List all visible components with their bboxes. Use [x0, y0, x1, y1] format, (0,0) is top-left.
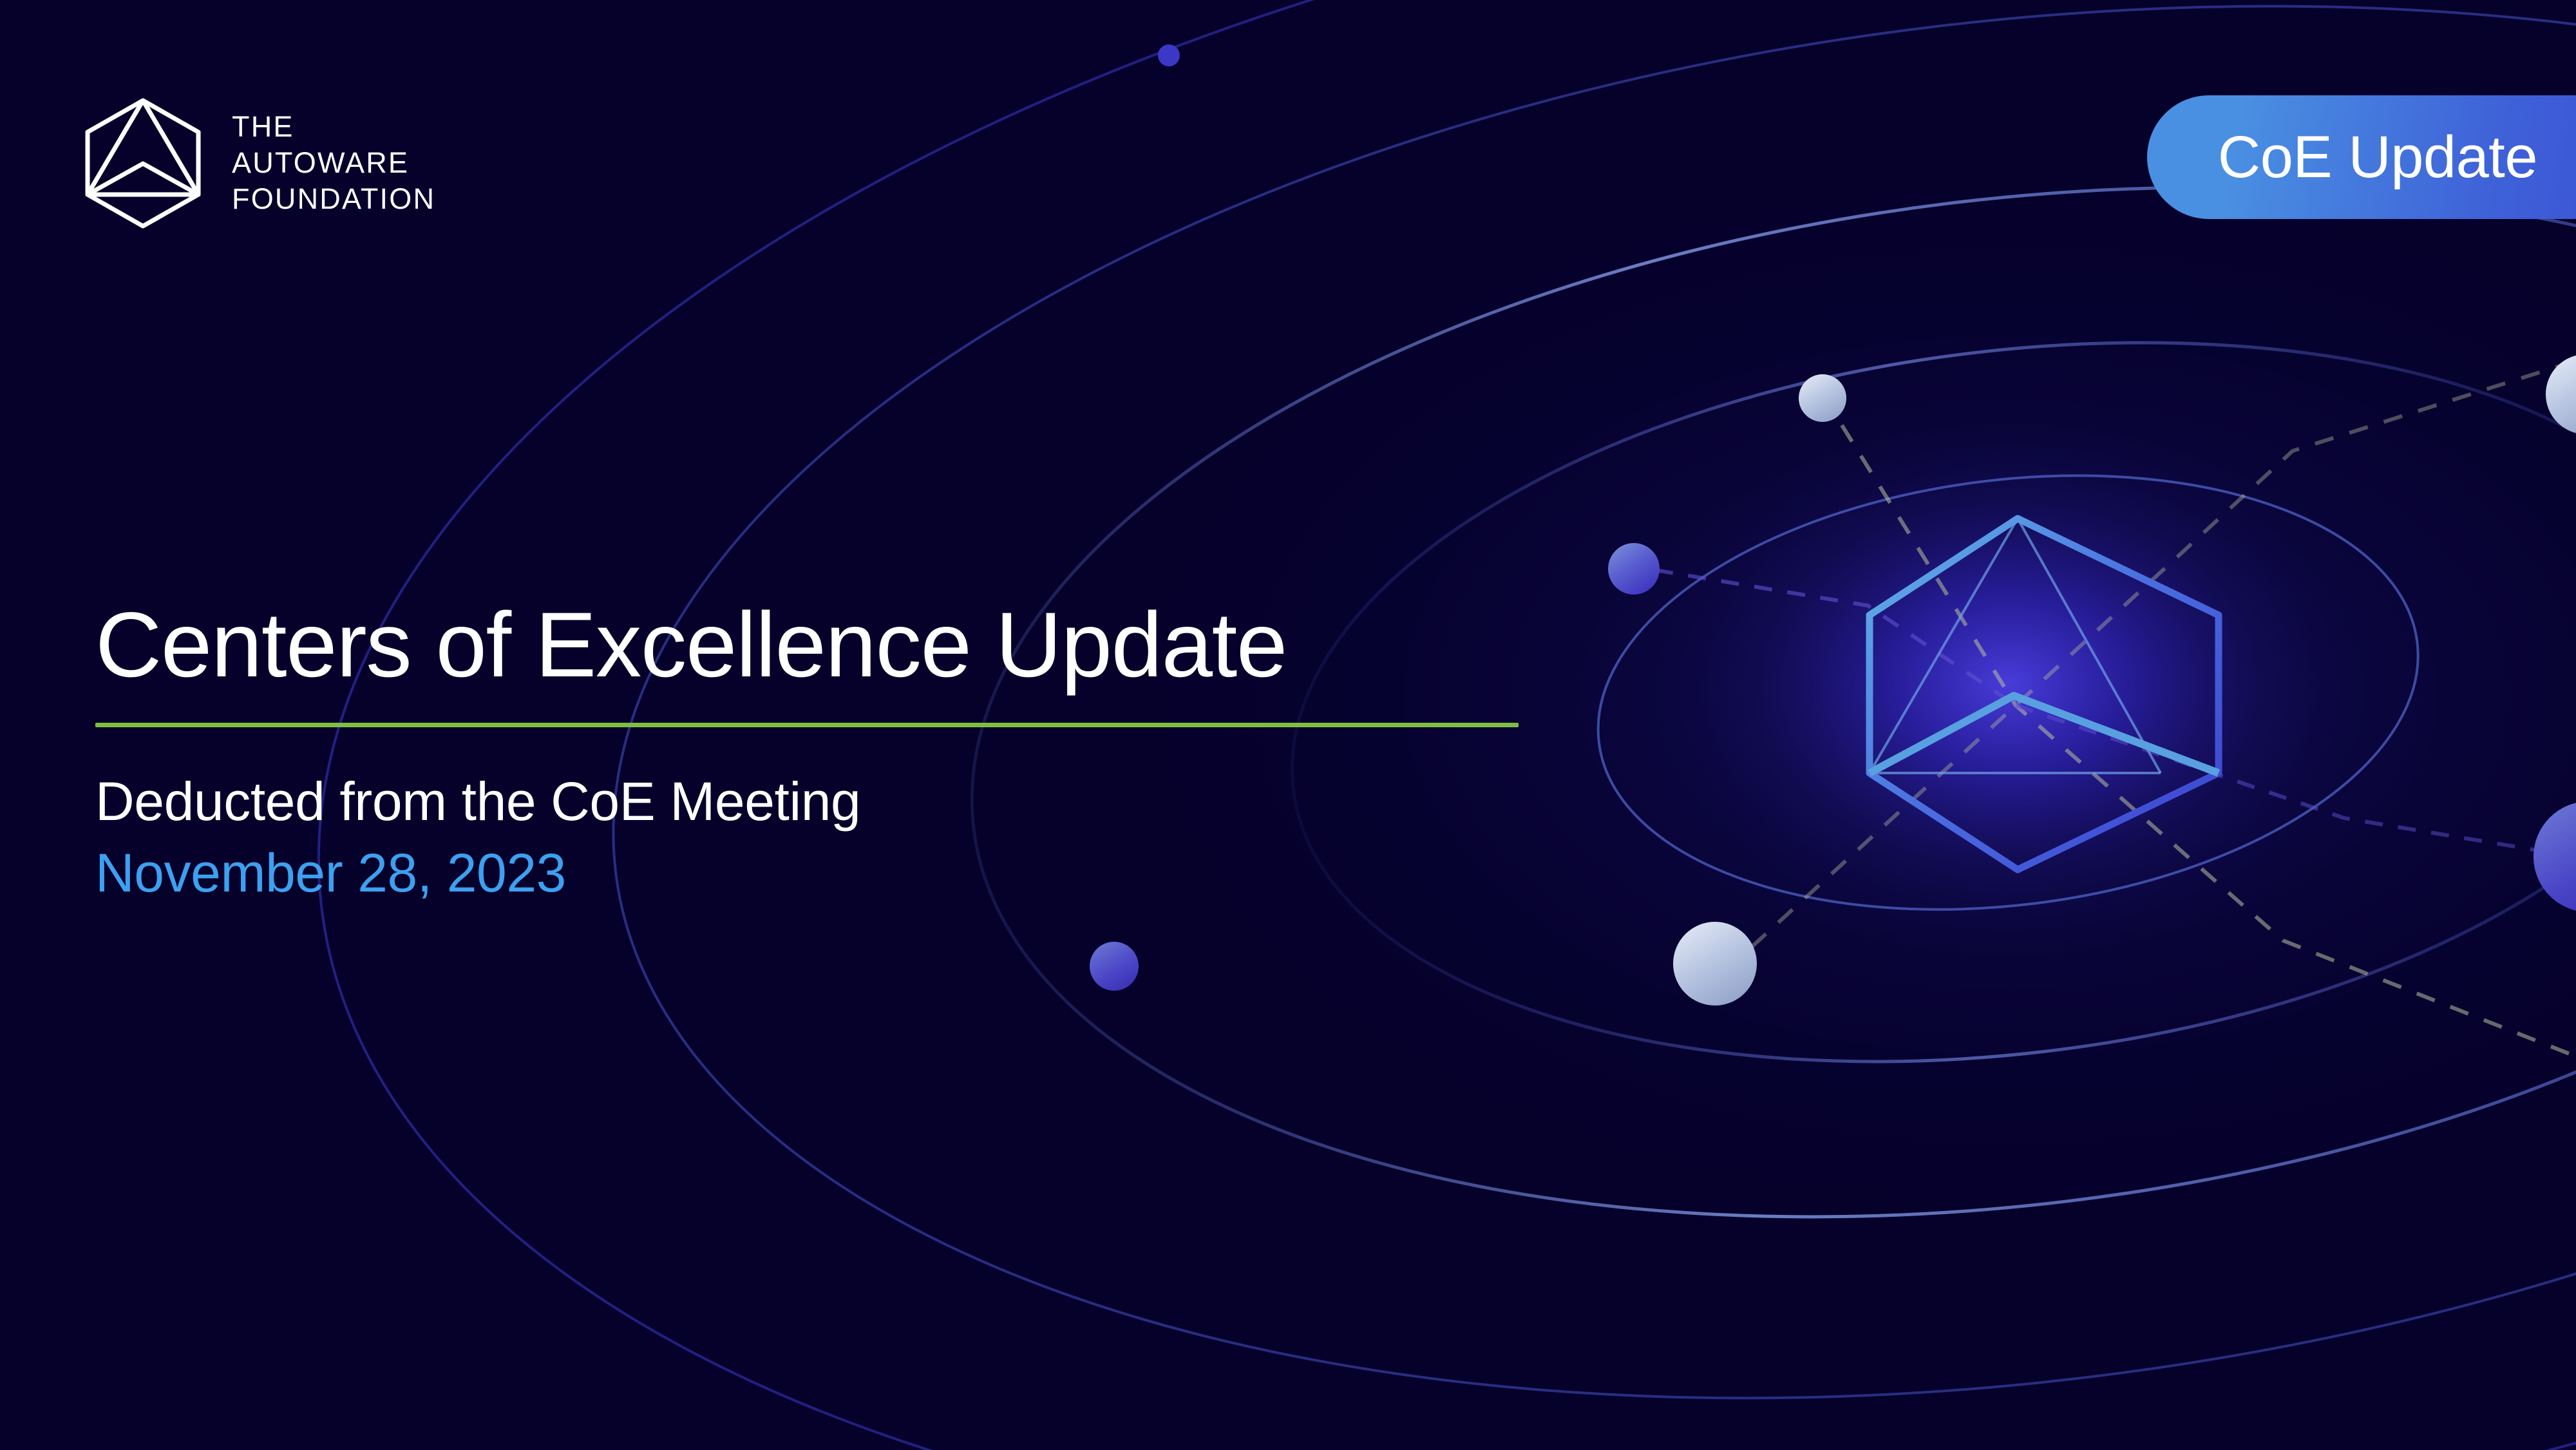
dashed-connectors	[1655, 361, 2576, 1056]
page-title: Centers of Excellence Update	[95, 599, 1519, 691]
sphere-edge-pale	[2546, 354, 2576, 434]
presentation-slide: THE AUTOWARE FOUNDATION CoE Update Cente…	[0, 0, 2576, 1450]
coe-update-badge-label: CoE Update	[2218, 124, 2537, 191]
logo-wordmark: THE AUTOWARE FOUNDATION	[232, 109, 435, 216]
sphere-pale-top	[1799, 374, 1846, 422]
coe-update-badge: CoE Update	[2147, 95, 2576, 219]
sphere-small-violet	[1158, 44, 1180, 66]
title-block: Centers of Excellence Update Deducted fr…	[95, 599, 1519, 902]
autoware-hexagon-logo-icon	[80, 95, 206, 231]
logo-line-foundation: FOUNDATION	[232, 181, 435, 217]
slide-date: November 28, 2023	[95, 844, 1519, 902]
title-underline-rule	[95, 723, 1519, 727]
center-hexagon-graphic	[1870, 519, 2219, 870]
hexagon-outline	[1870, 519, 2219, 870]
slide-subtitle: Deducted from the CoE Meeting	[95, 772, 1519, 831]
autoware-foundation-logo: THE AUTOWARE FOUNDATION	[80, 95, 435, 231]
hexagon-chevron	[1870, 696, 2219, 773]
sphere-indigo-left	[1090, 942, 1139, 991]
orbit-ring-inner-2	[1573, 432, 2443, 954]
sphere-pale-large	[1673, 922, 1757, 1006]
sphere-blue-mid	[1608, 543, 1660, 595]
logo-line-autoware: AUTOWARE	[232, 145, 435, 181]
sphere-edge-indigo	[2533, 801, 2576, 912]
logo-line-the: THE	[232, 109, 435, 145]
core-glow	[1610, 380, 2409, 986]
